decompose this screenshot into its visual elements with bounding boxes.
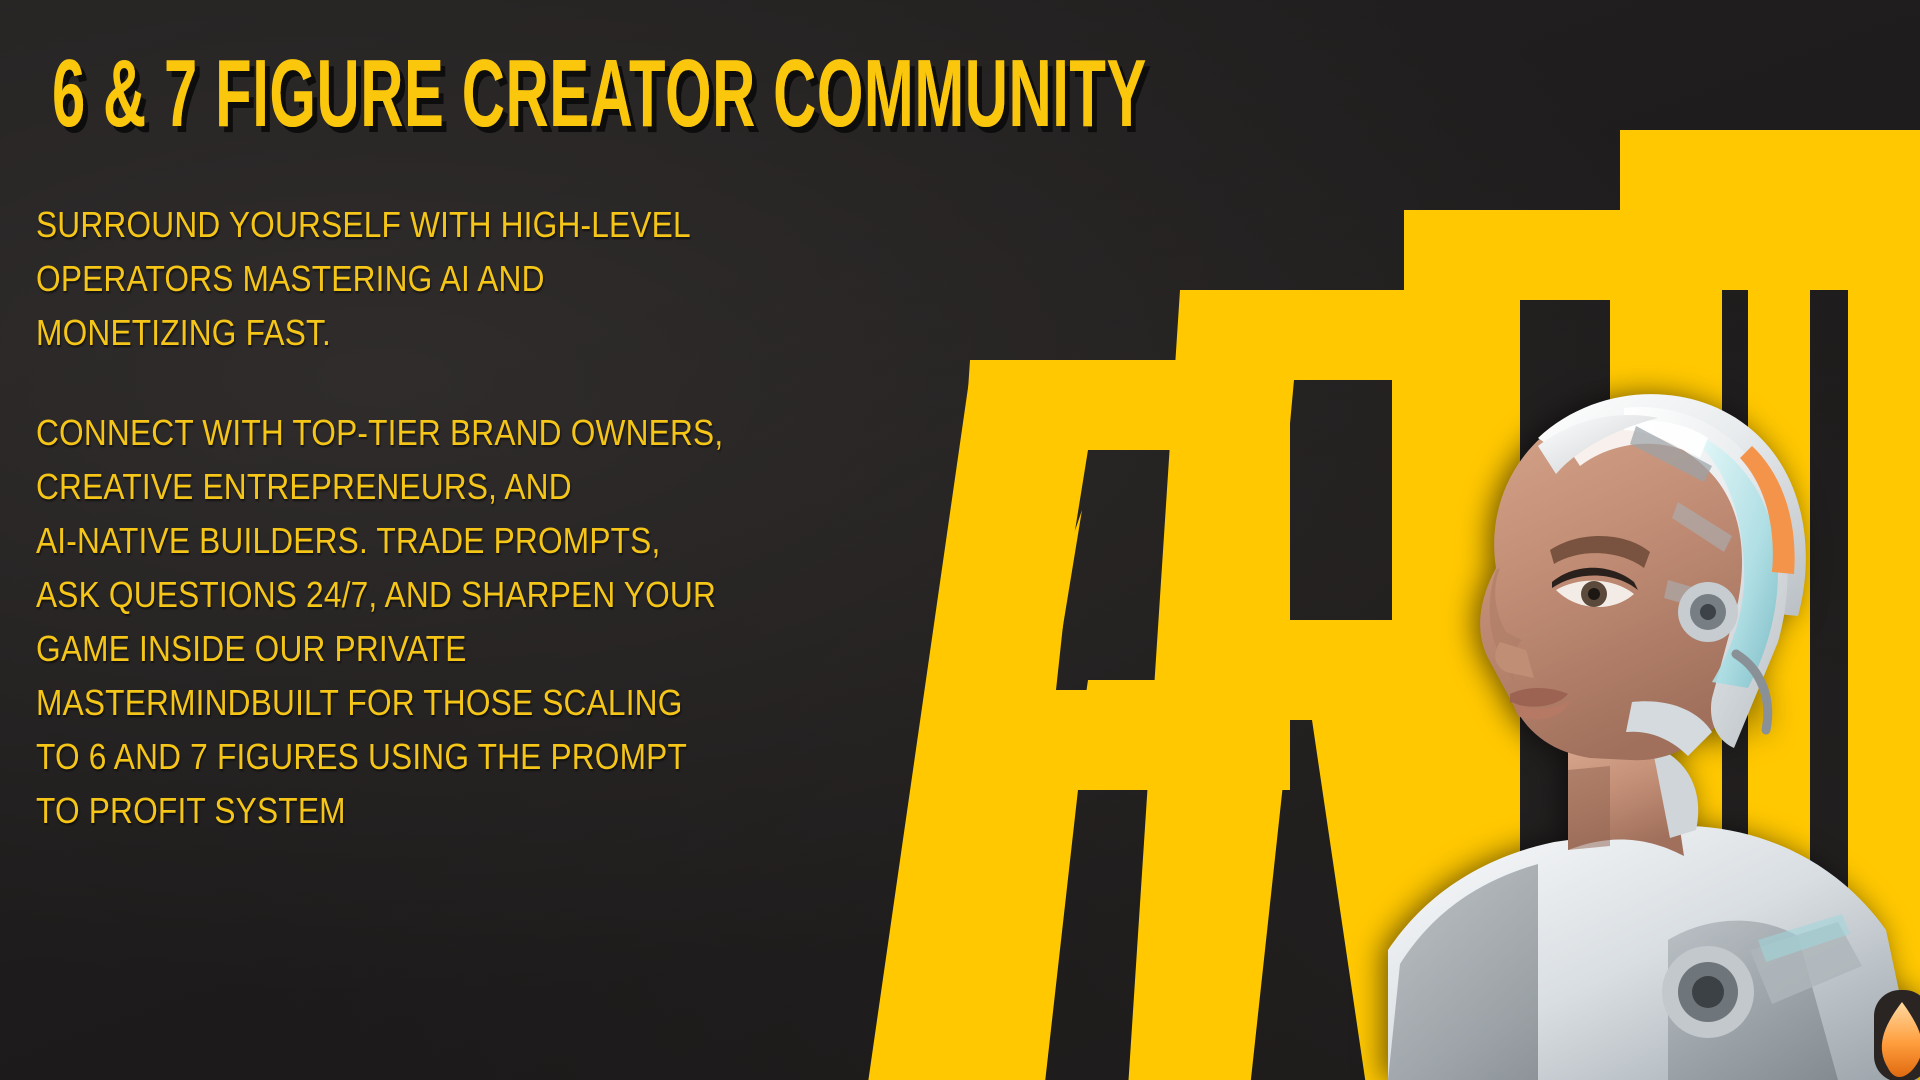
hair-wisp xyxy=(1538,415,1658,474)
helmet-highlight xyxy=(1568,421,1708,466)
iris xyxy=(1581,581,1607,607)
helmet-seam-3 xyxy=(1664,580,1730,616)
neck-shadow xyxy=(1568,766,1610,850)
helmet-shell xyxy=(1538,394,1806,616)
shoulder-joint-inner xyxy=(1678,962,1738,1022)
android-face xyxy=(1480,396,1794,760)
paragraph-spacer xyxy=(36,360,856,406)
glow-housing xyxy=(1874,990,1920,1080)
promo-slide: 6 & 7 FIGURE CREATOR COMMUNITY SURROUND … xyxy=(0,0,1920,1080)
pupil xyxy=(1588,588,1600,600)
body-paragraph-1: SURROUND YOURSELF WITH HIGH-LEVEL OPERAT… xyxy=(36,198,758,360)
body-copy: SURROUND YOURSELF WITH HIGH-LEVEL OPERAT… xyxy=(36,198,856,838)
nose xyxy=(1495,642,1534,678)
page-title-svg: 6 & 7 FIGURE CREATOR COMMUNITY xyxy=(52,38,1152,146)
face-profile-edge xyxy=(1490,568,1522,696)
android-neck xyxy=(1568,750,1684,856)
eyebrow xyxy=(1550,536,1650,568)
wordmark-svg xyxy=(820,0,1920,1080)
shoulder-joint xyxy=(1662,946,1754,1038)
page-title: 6 & 7 FIGURE CREATOR COMMUNITY xyxy=(52,38,1182,146)
neck-cable xyxy=(1736,654,1768,730)
android-illustration-svg xyxy=(1238,250,1920,1080)
neck-collar xyxy=(1654,748,1698,838)
helmet-accent-stripe xyxy=(1740,446,1795,574)
ear-module-inner xyxy=(1690,594,1726,630)
lower-lip xyxy=(1512,700,1570,719)
glow-flame-icon xyxy=(1882,1002,1920,1077)
decorative-wordmark xyxy=(820,0,1920,1080)
android-torso-shadow xyxy=(1388,864,1538,1080)
android-chest-panel xyxy=(1668,921,1838,1080)
shoulder-plate xyxy=(1750,922,1862,1004)
helmet-seam-2 xyxy=(1672,502,1732,552)
body-paragraph-2: CONNECT WITH TOP-TIER BRAND OWNERS, CREA… xyxy=(36,406,758,838)
helmet-side xyxy=(1624,407,1788,748)
android-illustration xyxy=(1238,250,1920,1080)
ear-module-core xyxy=(1700,604,1716,620)
jaw-plate xyxy=(1626,701,1712,756)
ear-module xyxy=(1678,582,1738,642)
helmet-visor xyxy=(1702,440,1778,688)
page-title-text: 6 & 7 FIGURE CREATOR COMMUNITY xyxy=(52,40,1147,147)
lips xyxy=(1510,688,1568,707)
helmet-seam-1 xyxy=(1630,426,1712,482)
eye-white xyxy=(1556,581,1634,607)
shoulder-joint-core xyxy=(1692,976,1724,1008)
android-torso xyxy=(1388,826,1918,1080)
shoulder-accent xyxy=(1758,914,1850,962)
upper-lash xyxy=(1552,568,1638,590)
